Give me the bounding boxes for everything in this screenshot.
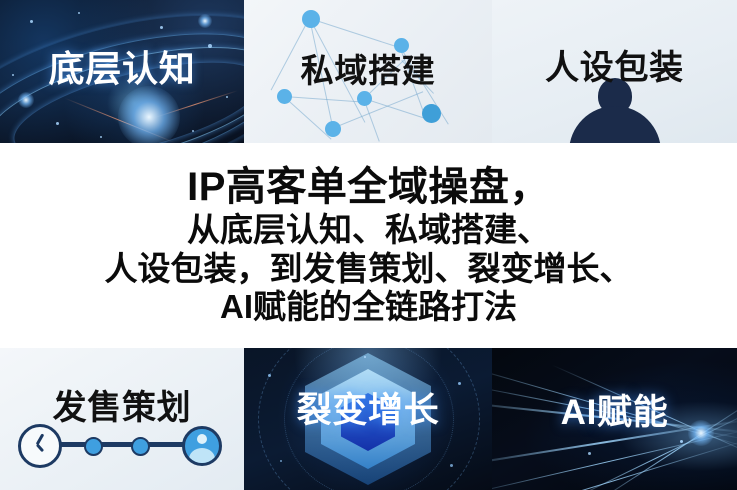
panel-caption: 底层认知 bbox=[0, 40, 244, 92]
clock-icon bbox=[18, 424, 62, 468]
panel-caption: 裂变增长 bbox=[244, 382, 492, 433]
headline-line-2: 从底层认知、私域搭建、 bbox=[187, 213, 550, 247]
headline-line-4: AI赋能的全链路打法 bbox=[220, 290, 517, 324]
panel-launch-planning[interactable]: 发售策划 bbox=[0, 348, 244, 490]
panel-caption: AI赋能 bbox=[492, 384, 737, 435]
panel-caption: 发售策划 bbox=[0, 380, 244, 429]
panel-private-domain-build[interactable]: 私域搭建 bbox=[244, 0, 492, 143]
panel-caption: 私域搭建 bbox=[244, 44, 492, 92]
panel-persona-packaging[interactable]: 人设包装 bbox=[492, 0, 737, 143]
panel-caption: 人设包装 bbox=[492, 40, 737, 89]
headline-line-1: IP高客单全域操盘， bbox=[187, 167, 550, 209]
top-panel-row: 底层认知 bbox=[0, 0, 737, 143]
bottom-panel-row: 发售策划 裂变增长 bbox=[0, 348, 737, 490]
poster-canvas: 底层认知 bbox=[0, 0, 737, 490]
timeline-end-marker bbox=[182, 426, 222, 466]
panel-ai-empowerment[interactable]: AI赋能 bbox=[492, 348, 737, 490]
panel-fission-growth[interactable]: 裂变增长 bbox=[244, 348, 492, 490]
headline-block: IP高客单全域操盘， 从底层认知、私域搭建、 人设包装，到发售策划、裂变增长、 … bbox=[0, 143, 737, 348]
panel-foundation-cognition[interactable]: 底层认知 bbox=[0, 0, 244, 143]
headline-line-3: 人设包装，到发售策划、裂变增长、 bbox=[105, 252, 633, 286]
